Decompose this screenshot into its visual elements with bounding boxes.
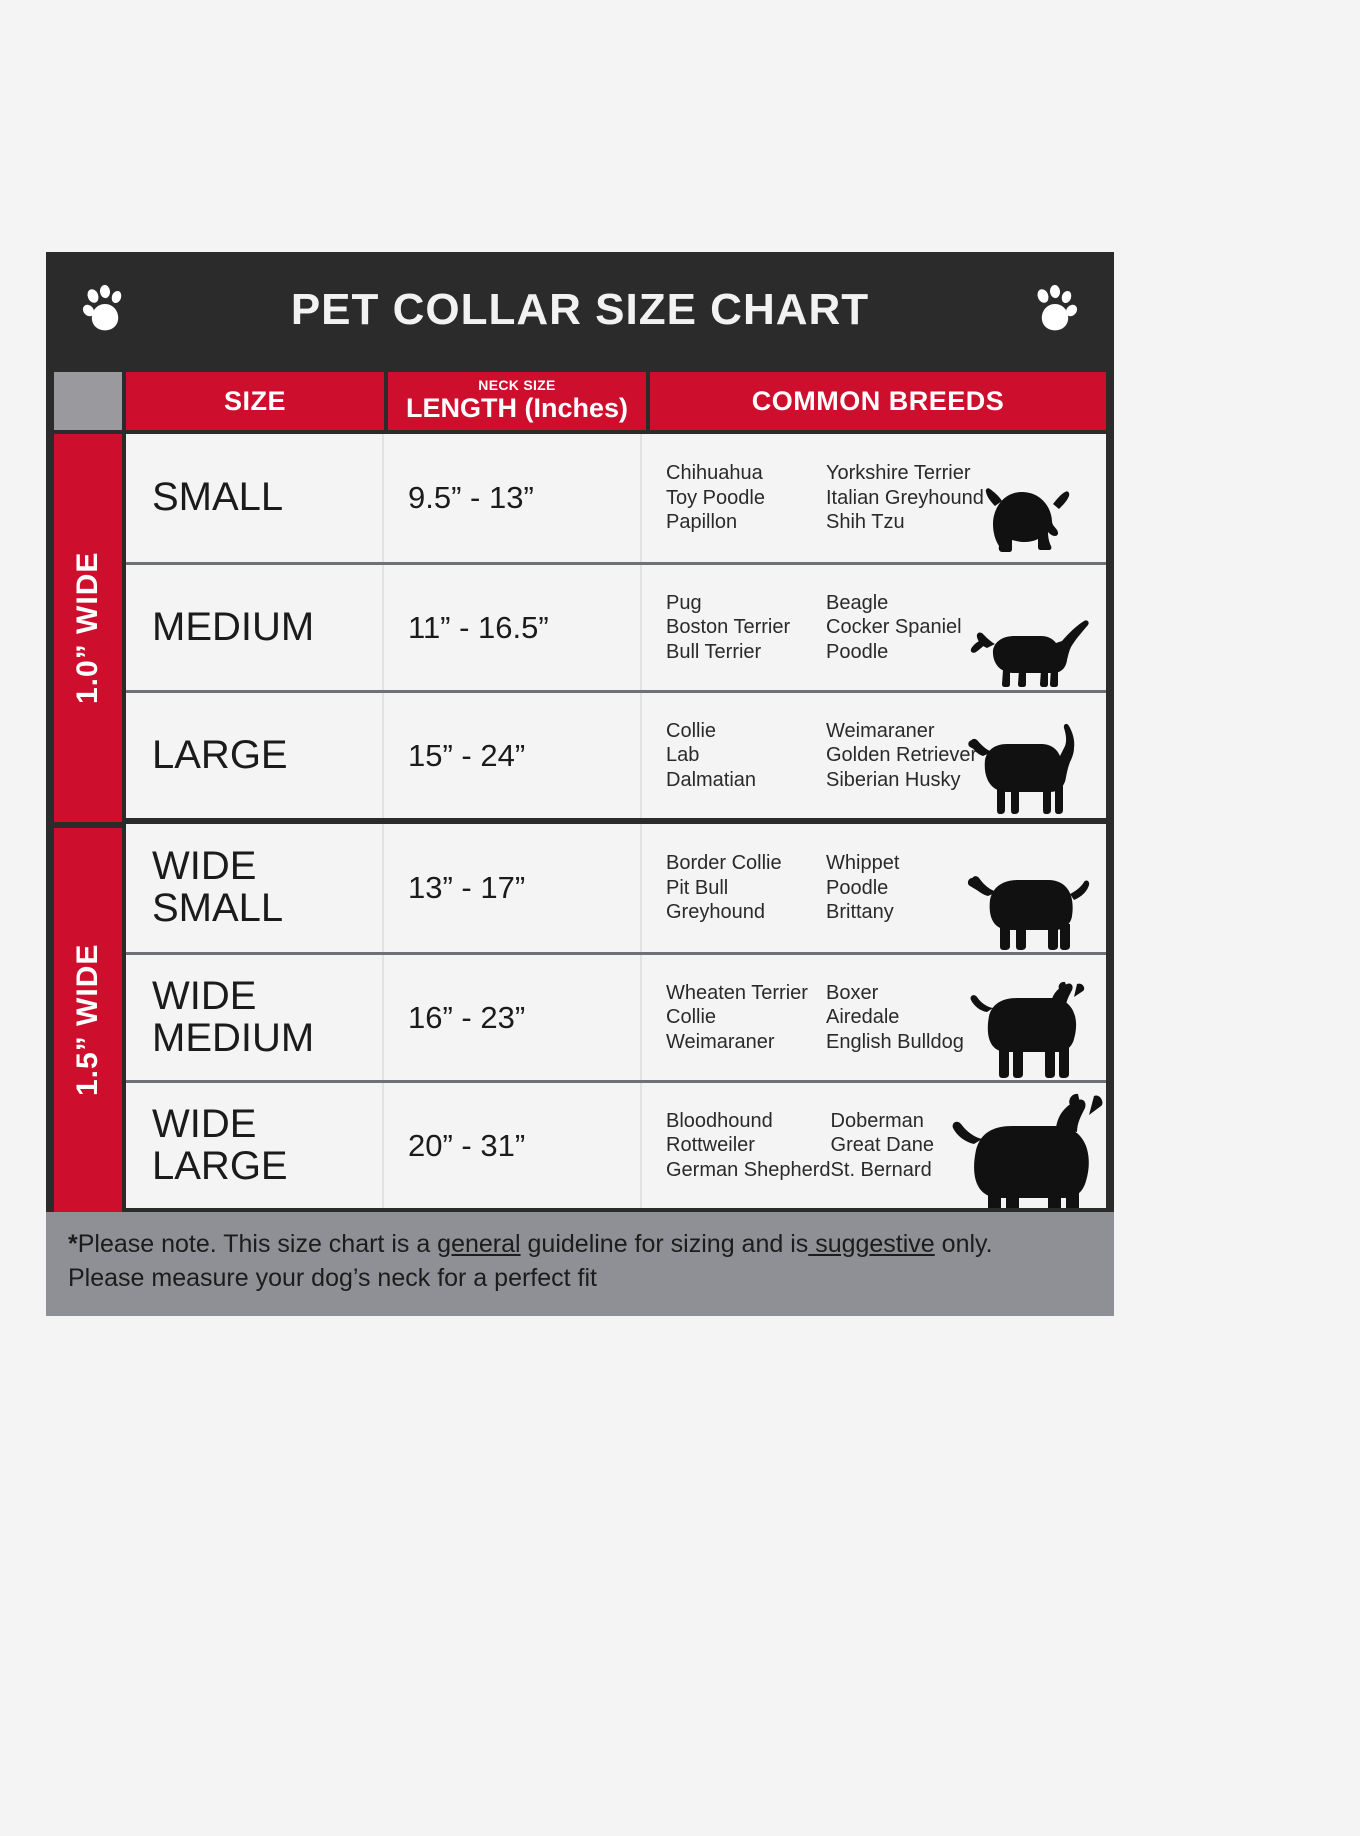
- breeds-column-2: Boxer Airedale English Bulldog: [826, 981, 986, 1054]
- footer-text-part1: Please note. This size chart is a: [78, 1230, 437, 1258]
- breed-item: Pug: [666, 591, 826, 615]
- breed-item: Wheaten Terrier: [666, 981, 826, 1005]
- row-group-1-5-wide: WIDE SMALL 13” - 17” Border Collie Pit B…: [126, 824, 1106, 1208]
- breed-item: Poodle: [826, 876, 986, 900]
- breed-item: Bull Terrier: [666, 640, 826, 664]
- chart-header-banner: PET COLLAR SIZE CHART: [46, 252, 1114, 368]
- breed-item: Chihuahua: [666, 461, 826, 485]
- breed-item: Dalmatian: [666, 768, 826, 792]
- breed-item: Airedale: [826, 1005, 986, 1029]
- cell-size: WIDE LARGE: [126, 1083, 384, 1208]
- footer-asterisk: *: [68, 1230, 78, 1258]
- table-row: MEDIUM 11” - 16.5” Pug Boston Terrier Bu…: [126, 562, 1106, 690]
- cell-length: 9.5” - 13”: [384, 434, 642, 562]
- table-body: 1.0” WIDE 1.5” WIDE SMALL 9.5” - 13”: [54, 430, 1106, 1212]
- breeds-column-2: Weimaraner Golden Retriever Siberian Hus…: [826, 719, 986, 792]
- breeds-column-1: Collie Lab Dalmatian: [666, 719, 826, 792]
- breed-item: English Bulldog: [826, 1030, 986, 1054]
- size-chart-card: PET COLLAR SIZE CHART SIZE NECK SIZE LEN…: [46, 252, 1114, 1316]
- header-length-superscript: NECK SIZE: [388, 378, 646, 392]
- footer-underline-suggestive: suggestive: [808, 1230, 934, 1258]
- footer-line-2: Please measure your dog’s neck for a per…: [68, 1262, 1092, 1296]
- table-row: WIDE SMALL 13” - 17” Border Collie Pit B…: [126, 824, 1106, 952]
- breed-item: Weimaraner: [826, 719, 986, 743]
- breed-item: Whippet: [826, 851, 986, 875]
- breed-item: Brittany: [826, 900, 986, 924]
- row-group-1-0-wide: SMALL 9.5” - 13” Chihuahua Toy Poodle Pa…: [126, 434, 1106, 818]
- footer-text-part2: guideline for sizing and is: [521, 1230, 809, 1258]
- table-row: SMALL 9.5” - 13” Chihuahua Toy Poodle Pa…: [126, 434, 1106, 562]
- breed-item: Pit Bull: [666, 876, 826, 900]
- page-title: PET COLLAR SIZE CHART: [128, 285, 1032, 335]
- breeds-column-2: Beagle Cocker Spaniel Poodle: [826, 591, 986, 664]
- rail-label-1-0-wide: 1.0” WIDE: [54, 434, 122, 822]
- footer-text-part3: only.: [935, 1230, 993, 1258]
- size-line: MEDIUM: [152, 1018, 314, 1060]
- header-common-breeds: COMMON BREEDS: [650, 372, 1106, 430]
- size-line: WIDE: [152, 1104, 256, 1146]
- header-size: SIZE: [126, 372, 384, 430]
- size-line: MEDIUM: [152, 607, 314, 649]
- breed-item: Weimaraner: [666, 1030, 826, 1054]
- breed-item: Border Collie: [666, 851, 826, 875]
- page-root: PET COLLAR SIZE CHART SIZE NECK SIZE LEN…: [0, 0, 1360, 1836]
- breeds-column-1: Chihuahua Toy Poodle Papillon: [666, 461, 826, 534]
- cell-breeds: Border Collie Pit Bull Greyhound Whippet…: [642, 824, 1106, 952]
- cell-length: 11” - 16.5”: [384, 565, 642, 690]
- size-line: LARGE: [152, 735, 288, 777]
- table-rows: SMALL 9.5” - 13” Chihuahua Toy Poodle Pa…: [126, 434, 1106, 1212]
- size-line: LARGE: [152, 1146, 288, 1188]
- paw-print-icon-left: [82, 285, 128, 335]
- cell-length: 13” - 17”: [384, 824, 642, 952]
- size-line: SMALL: [152, 888, 283, 930]
- breeds-column-1: Bloodhound Rottweiler German Shepherd: [666, 1109, 831, 1182]
- size-line: WIDE: [152, 846, 256, 888]
- breed-item: Great Dane: [831, 1133, 991, 1157]
- size-line: SMALL: [152, 477, 283, 519]
- cell-length: 15” - 24”: [384, 693, 642, 818]
- breed-item: Boxer: [826, 981, 986, 1005]
- cell-size: MEDIUM: [126, 565, 384, 690]
- breed-item: Collie: [666, 1005, 826, 1029]
- breeds-column-2: Yorkshire Terrier Italian Greyhound Shih…: [826, 461, 986, 534]
- table-row: WIDE LARGE 20” - 31” Bloodhound Rottweil…: [126, 1080, 1106, 1208]
- size-table: SIZE NECK SIZE LENGTH (Inches) COMMON BR…: [46, 368, 1114, 1212]
- breeds-column-2: Doberman Great Dane St. Bernard: [831, 1109, 991, 1182]
- breed-item: Yorkshire Terrier: [826, 461, 986, 485]
- breed-item: Beagle: [826, 591, 986, 615]
- breed-item: Cocker Spaniel: [826, 615, 986, 639]
- cell-breeds: Chihuahua Toy Poodle Papillon Yorkshire …: [642, 434, 1106, 562]
- breed-item: Italian Greyhound: [826, 486, 986, 510]
- breed-item: Boston Terrier: [666, 615, 826, 639]
- cell-size: SMALL: [126, 434, 384, 562]
- cell-breeds: Pug Boston Terrier Bull Terrier Beagle C…: [642, 565, 1106, 690]
- cell-breeds: Wheaten Terrier Collie Weimaraner Boxer …: [642, 955, 1106, 1080]
- breed-item: Lab: [666, 743, 826, 767]
- footer-line-1: *Please note. This size chart is a gener…: [68, 1228, 1092, 1262]
- collar-width-rail-group: 1.0” WIDE 1.5” WIDE: [54, 434, 122, 1212]
- paw-print-icon-right: [1032, 285, 1078, 335]
- cell-breeds: Bloodhound Rottweiler German Shepherd Do…: [642, 1083, 1106, 1208]
- header-length: NECK SIZE LENGTH (Inches): [388, 372, 646, 430]
- rail-label-1-5-wide: 1.5” WIDE: [54, 828, 122, 1212]
- breeds-column-1: Wheaten Terrier Collie Weimaraner: [666, 981, 826, 1054]
- size-line: WIDE: [152, 976, 256, 1018]
- header-length-main: LENGTH (Inches): [406, 395, 628, 422]
- breed-item: Siberian Husky: [826, 768, 986, 792]
- breed-item: Bloodhound: [666, 1109, 831, 1133]
- breeds-column-1: Border Collie Pit Bull Greyhound: [666, 851, 826, 924]
- cell-length: 16” - 23”: [384, 955, 642, 1080]
- breed-item: Poodle: [826, 640, 986, 664]
- breed-item: Collie: [666, 719, 826, 743]
- breed-item: Papillon: [666, 510, 826, 534]
- table-row: WIDE MEDIUM 16” - 23” Wheaten Terrier Co…: [126, 952, 1106, 1080]
- breed-item: Doberman: [831, 1109, 991, 1133]
- header-blank-cell: [54, 372, 122, 430]
- breed-item: Shih Tzu: [826, 510, 986, 534]
- table-header-row: SIZE NECK SIZE LENGTH (Inches) COMMON BR…: [54, 368, 1106, 430]
- breeds-column-1: Pug Boston Terrier Bull Terrier: [666, 591, 826, 664]
- breeds-column-2: Whippet Poodle Brittany: [826, 851, 986, 924]
- breed-item: Golden Retriever: [826, 743, 986, 767]
- cell-size: LARGE: [126, 693, 384, 818]
- footer-underline-general: general: [437, 1230, 520, 1258]
- cell-size: WIDE SMALL: [126, 824, 384, 952]
- cell-breeds: Collie Lab Dalmatian Weimaraner Golden R…: [642, 693, 1106, 818]
- cell-length: 20” - 31”: [384, 1083, 642, 1208]
- table-row: LARGE 15” - 24” Collie Lab Dalmatian: [126, 690, 1106, 818]
- breed-item: Toy Poodle: [666, 486, 826, 510]
- breed-item: Greyhound: [666, 900, 826, 924]
- footer-note: *Please note. This size chart is a gener…: [46, 1212, 1114, 1316]
- breed-item: Rottweiler: [666, 1133, 831, 1157]
- breed-item: German Shepherd: [666, 1158, 831, 1182]
- breed-item: St. Bernard: [831, 1158, 991, 1182]
- cell-size: WIDE MEDIUM: [126, 955, 384, 1080]
